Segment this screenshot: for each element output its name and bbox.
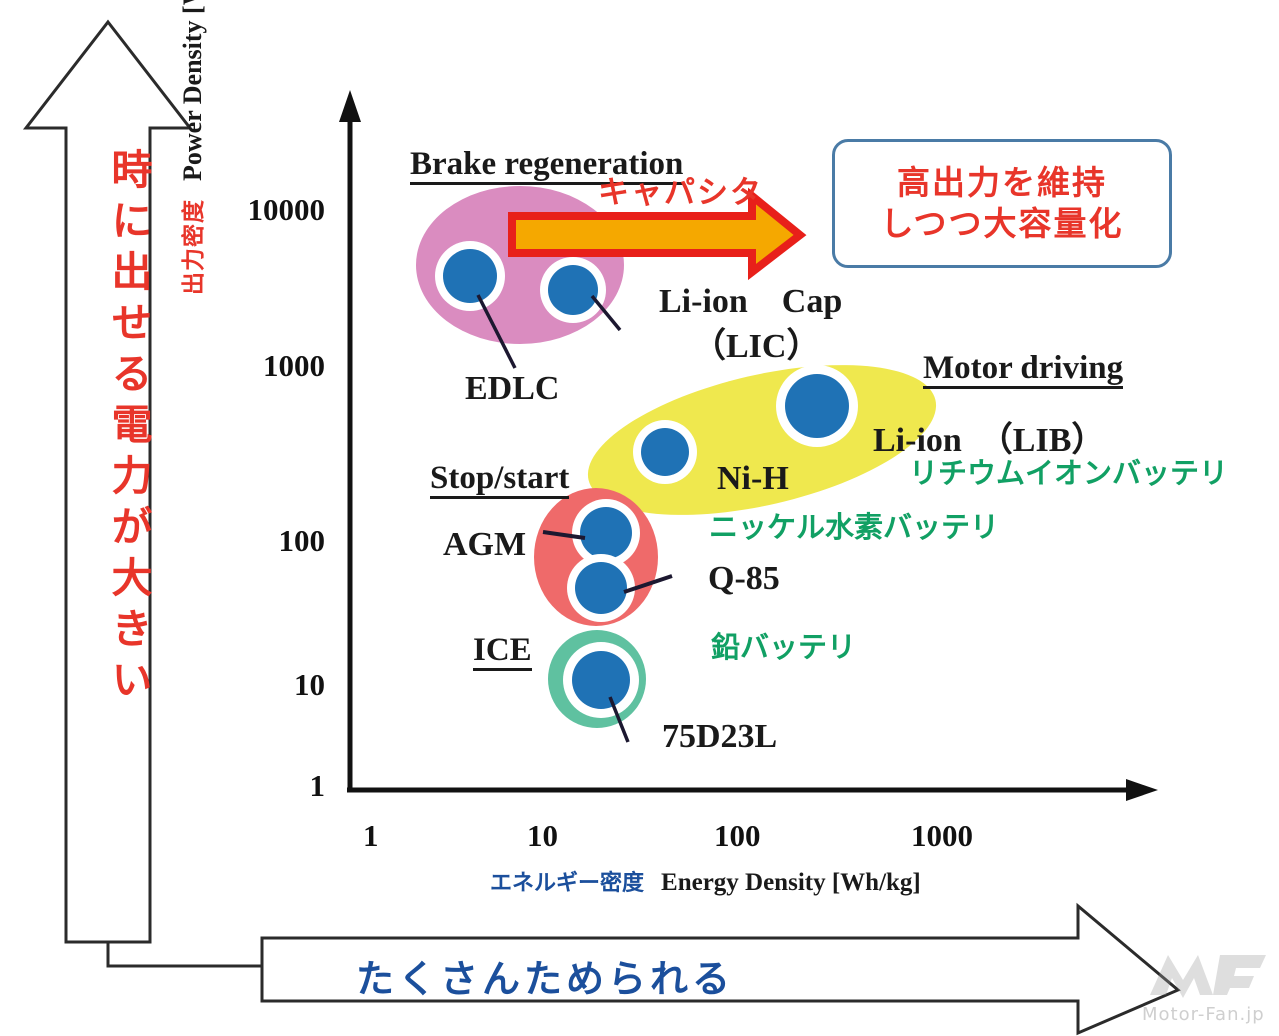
marker-edlc-ring	[435, 241, 505, 311]
y-tick-10: 10	[190, 667, 325, 703]
chart-root: 時に出せる電力が大きい たくさんためられる 出力密度 Power Density…	[0, 0, 1279, 1036]
marker-agm	[580, 507, 632, 559]
marker-nih-ring	[633, 420, 697, 484]
point-label-lib-jp: リチウムイオンバッテリ	[909, 459, 1228, 488]
y-axis-title-en: Power Density [W/kg]	[178, 0, 207, 181]
x-axis-title-jp: エネルギー密度	[490, 871, 644, 896]
point-label-edlc: EDLC	[465, 372, 559, 406]
watermark-logo	[1150, 955, 1266, 998]
region-stop-start	[534, 488, 658, 626]
callout-line-1: 高出力を維持	[897, 163, 1107, 203]
x-axis-title-en: Energy Density [Wh/kg]	[661, 869, 921, 896]
region-ice	[548, 630, 646, 728]
leader-q85	[624, 576, 672, 592]
point-label-lic-line2: （LIC）	[692, 330, 820, 364]
y-axis-arrowhead	[339, 90, 361, 122]
marker-75d23l	[572, 651, 630, 709]
group-label-ice: ICE	[473, 634, 532, 671]
callout-box: 高出力を維持 しつつ大容量化	[832, 139, 1172, 268]
point-label-75d23l: 75D23L	[662, 720, 777, 754]
leader-lic	[592, 296, 620, 330]
marker-75d23l-ring	[563, 642, 639, 718]
x-tick-10: 10	[527, 818, 558, 854]
marker-lib	[785, 374, 849, 438]
x-axis-title-group: エネルギー密度 Energy Density [Wh/kg]	[490, 870, 921, 895]
marker-agm-ring	[572, 499, 640, 567]
watermark-text: Motor-Fan.jp	[1142, 1004, 1265, 1025]
y-tick-1: 1	[190, 768, 325, 804]
marker-edlc	[443, 249, 497, 303]
point-label-lead-jp: 鉛バッテリ	[711, 633, 856, 662]
x-axis-arrowhead	[1126, 779, 1158, 801]
leader-agm	[543, 532, 585, 538]
point-label-nih: Ni-H	[717, 462, 789, 496]
x-tick-1000: 1000	[911, 818, 973, 854]
marker-q85-ring	[567, 554, 635, 622]
marker-nih	[641, 428, 689, 476]
y-axis-title-group: 出力密度 Power Density [W/kg]	[180, 35, 206, 295]
leader-edlc	[478, 295, 515, 368]
x-tick-1: 1	[363, 818, 379, 854]
group-label-stop-start: Stop/start	[430, 462, 569, 499]
group-label-motor-driving: Motor driving	[923, 352, 1123, 389]
marker-lic	[548, 265, 598, 315]
point-label-q85: Q-85	[708, 562, 780, 596]
marker-q85	[575, 562, 627, 614]
leader-75d23l	[610, 697, 628, 742]
capacitor-arrow-label: キャパシタ	[598, 178, 763, 209]
region-brake-regeneration	[416, 186, 624, 344]
y-tick-10000: 10000	[190, 192, 325, 228]
point-label-lib: Li-ion （LIB）	[873, 424, 1105, 458]
y-tick-1000: 1000	[190, 348, 325, 384]
bottom-arrow-label: たくさんためられる	[0, 948, 1090, 1003]
point-label-lic-line1: Li-ion Cap	[659, 285, 842, 319]
left-arrow-label: 時に出せる電力が大きい	[88, 148, 148, 709]
y-tick-100: 100	[190, 523, 325, 559]
marker-lib-ring	[776, 365, 858, 447]
callout-line-2: しつつ大容量化	[880, 204, 1123, 244]
marker-lic-ring	[540, 257, 606, 323]
point-label-agm: AGM	[443, 528, 526, 562]
point-label-nih-jp: ニッケル水素バッテリ	[709, 513, 999, 542]
x-tick-100: 100	[714, 818, 761, 854]
